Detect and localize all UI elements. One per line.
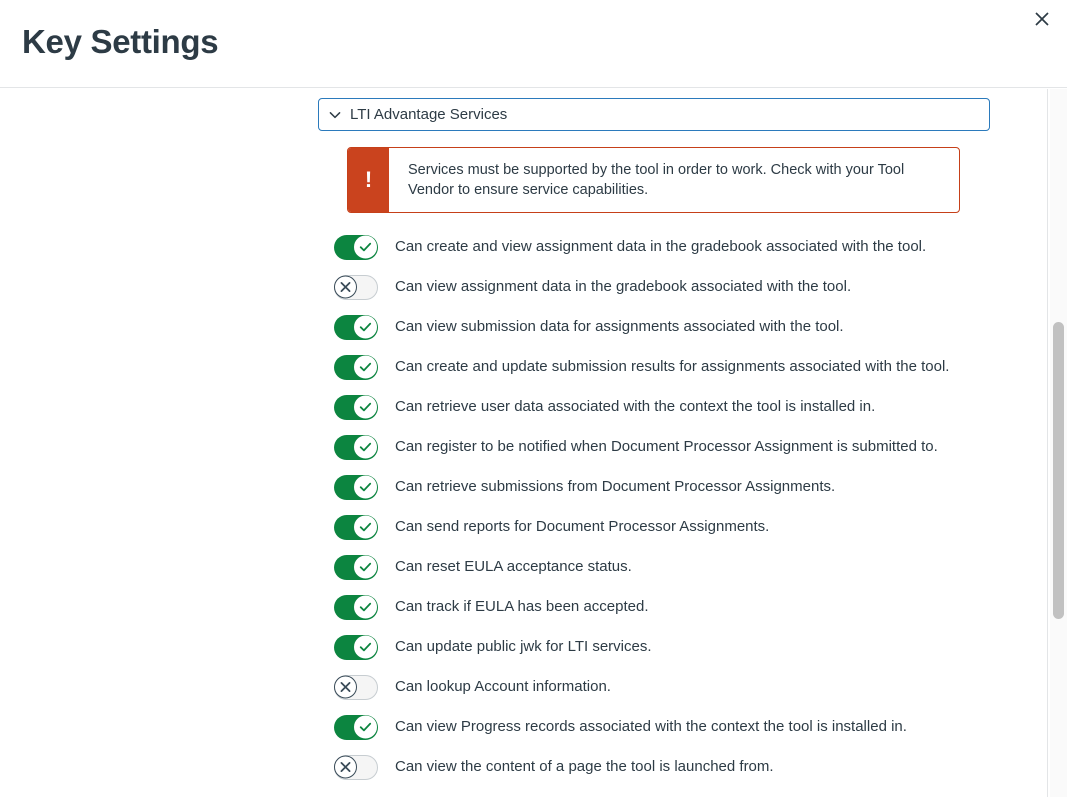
toggle-knob [354, 476, 377, 499]
service-label: Can track if EULA has been accepted. [395, 597, 648, 617]
service-toggle-9[interactable] [334, 595, 378, 620]
service-toggle-4[interactable] [334, 395, 378, 420]
toggle-knob [354, 316, 377, 339]
service-toggle-8[interactable] [334, 555, 378, 580]
toggle-knob [334, 676, 357, 699]
exclamation-icon: ! [348, 148, 389, 212]
service-toggle-list: Can create and view assignment data in t… [318, 227, 990, 787]
service-label: Can reset EULA acceptance status. [395, 557, 632, 577]
scrollbar-thumb[interactable] [1053, 322, 1064, 619]
close-icon[interactable] [1027, 4, 1057, 34]
vertical-scrollbar[interactable] [1050, 89, 1067, 797]
service-row: Can view submission data for assignments… [318, 307, 990, 347]
service-warning-alert: ! Services must be supported by the tool… [347, 147, 960, 213]
service-label: Can retrieve user data associated with t… [395, 397, 875, 417]
service-toggle-11[interactable] [334, 675, 378, 700]
x-icon [339, 761, 352, 774]
service-toggle-3[interactable] [334, 355, 378, 380]
service-row: Can lookup Account information. [318, 667, 990, 707]
service-toggle-12[interactable] [334, 715, 378, 740]
x-icon [339, 281, 352, 294]
toggle-knob [354, 636, 377, 659]
toggle-knob [354, 716, 377, 739]
check-icon [359, 601, 372, 614]
service-toggle-5[interactable] [334, 435, 378, 460]
check-icon [359, 521, 372, 534]
check-icon [359, 401, 372, 414]
toggle-knob [334, 756, 357, 779]
alert-message: Services must be supported by the tool i… [389, 148, 952, 212]
check-icon [359, 721, 372, 734]
check-icon [359, 321, 372, 334]
toggle-knob [354, 396, 377, 419]
service-toggle-7[interactable] [334, 515, 378, 540]
service-row: Can track if EULA has been accepted. [318, 587, 990, 627]
service-row: Can retrieve user data associated with t… [318, 387, 990, 427]
service-label: Can view the content of a page the tool … [395, 757, 774, 777]
section-title: LTI Advantage Services [350, 106, 507, 124]
check-icon [359, 481, 372, 494]
service-label: Can lookup Account information. [395, 677, 611, 697]
check-icon [359, 361, 372, 374]
content-column: LTI Advantage Services ! Services must b… [318, 98, 990, 787]
service-row: Can view the content of a page the tool … [318, 747, 990, 787]
service-toggle-6[interactable] [334, 475, 378, 500]
check-icon [359, 641, 372, 654]
service-label: Can view submission data for assignments… [395, 317, 844, 337]
modal-header: Key Settings [0, 0, 1067, 88]
service-row: Can reset EULA acceptance status. [318, 547, 990, 587]
section-toggle-lti-advantage-services[interactable]: LTI Advantage Services [318, 98, 990, 131]
service-row: Can view assignment data in the gradeboo… [318, 267, 990, 307]
service-label: Can view assignment data in the gradeboo… [395, 277, 851, 297]
chevron-down-glyph [328, 108, 342, 122]
service-row: Can retrieve submissions from Document P… [318, 467, 990, 507]
toggle-knob [354, 596, 377, 619]
toggle-knob [354, 436, 377, 459]
modal-body: LTI Advantage Services ! Services must b… [0, 89, 1048, 797]
service-row: Can send reports for Document Processor … [318, 507, 990, 547]
service-toggle-1[interactable] [334, 275, 378, 300]
chevron-down-icon [327, 107, 343, 123]
service-label: Can create and update submission results… [395, 357, 949, 377]
service-row: Can register to be notified when Documen… [318, 427, 990, 467]
check-icon [359, 441, 372, 454]
service-label: Can register to be notified when Documen… [395, 437, 938, 457]
toggle-knob [334, 276, 357, 299]
close-glyph [1034, 11, 1050, 27]
toggle-knob [354, 556, 377, 579]
service-row: Can create and update submission results… [318, 347, 990, 387]
page-title: Key Settings [22, 20, 218, 64]
service-toggle-2[interactable] [334, 315, 378, 340]
service-label: Can update public jwk for LTI services. [395, 637, 652, 657]
check-icon [359, 561, 372, 574]
exclamation-glyph: ! [365, 169, 372, 191]
service-label: Can create and view assignment data in t… [395, 237, 926, 257]
toggle-knob [354, 356, 377, 379]
service-toggle-13[interactable] [334, 755, 378, 780]
check-icon [359, 241, 372, 254]
service-row: Can create and view assignment data in t… [318, 227, 990, 267]
service-label: Can view Progress records associated wit… [395, 717, 907, 737]
service-row: Can update public jwk for LTI services. [318, 627, 990, 667]
toggle-knob [354, 236, 377, 259]
service-label: Can send reports for Document Processor … [395, 517, 769, 537]
toggle-knob [354, 516, 377, 539]
x-icon [339, 681, 352, 694]
service-toggle-0[interactable] [334, 235, 378, 260]
service-label: Can retrieve submissions from Document P… [395, 477, 835, 497]
service-row: Can view Progress records associated wit… [318, 707, 990, 747]
service-toggle-10[interactable] [334, 635, 378, 660]
